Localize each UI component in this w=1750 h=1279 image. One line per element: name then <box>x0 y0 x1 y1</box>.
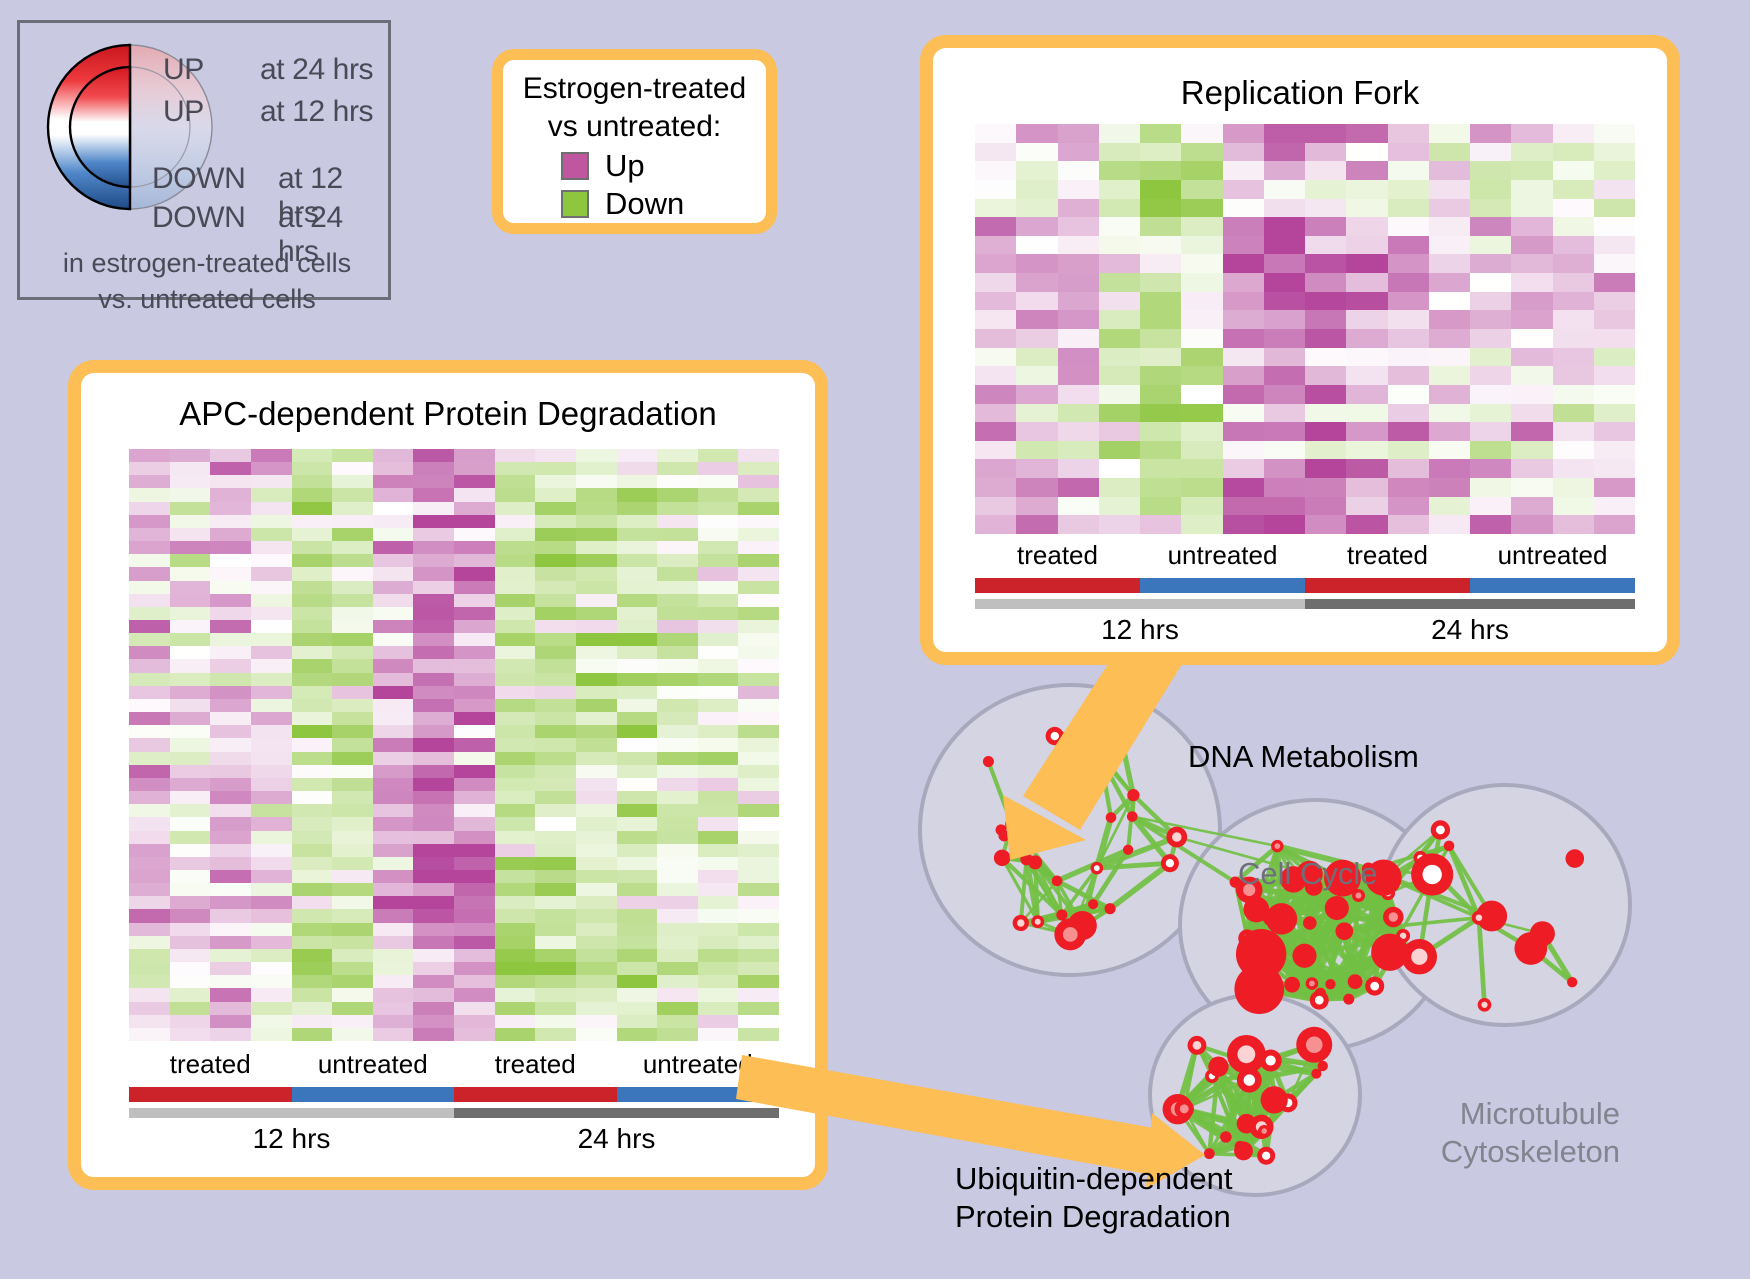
key-item-down: Down <box>561 188 684 219</box>
network-node[interactable] <box>1514 932 1547 965</box>
bar-segment-2 <box>454 1087 617 1102</box>
wheel-ring-label-1: UP <box>163 95 204 129</box>
network-node[interactable] <box>1325 979 1335 989</box>
key-title-line1: Estrogen-treated <box>503 70 766 108</box>
cluster-label-dna-metabolism: DNA Metabolism <box>1188 738 1419 776</box>
network-node-core <box>1035 919 1041 925</box>
network-node[interactable] <box>1127 811 1138 822</box>
network-node[interactable] <box>1236 929 1286 979</box>
network-node-core <box>1180 1104 1189 1113</box>
network-node-core <box>1309 981 1315 987</box>
network-node-core <box>1370 982 1379 991</box>
network-node[interactable] <box>1073 720 1094 741</box>
network-node[interactable] <box>1284 977 1300 993</box>
network-node[interactable] <box>1208 1057 1228 1077</box>
group-labels-replication: treateduntreatedtreateduntreated <box>975 540 1635 571</box>
treatment-bar-replication <box>975 578 1635 593</box>
heatmap-replication-fork <box>975 124 1635 534</box>
panel-apc-degradation: APC-dependent Protein Degradation treate… <box>68 360 828 1190</box>
network-node[interactable] <box>1318 1061 1328 1071</box>
network-node-core <box>1017 919 1024 926</box>
network-node-core <box>1411 949 1427 965</box>
panel-title-apc: APC-dependent Protein Degradation <box>81 395 815 433</box>
network-node[interactable] <box>1444 841 1455 852</box>
time-bar-apc <box>129 1108 779 1118</box>
network-node-core <box>1262 1152 1270 1160</box>
bar-segment-1 <box>1140 578 1305 593</box>
network-node[interactable] <box>1343 994 1354 1005</box>
network-node[interactable] <box>994 850 1010 866</box>
network-node-core <box>1051 732 1059 740</box>
network-node[interactable] <box>1292 944 1316 968</box>
key-title: Estrogen-treated vs untreated: <box>503 70 766 146</box>
down-swatch-icon <box>561 190 589 218</box>
up-swatch-icon <box>561 152 589 180</box>
bar-segment-1 <box>292 1087 455 1102</box>
group-label-1: untreated <box>1140 540 1305 571</box>
key-label-down: Down <box>605 188 684 219</box>
treatment-bar-apc <box>129 1087 779 1102</box>
colorwheel-note-line2: vs. untreated cells <box>20 281 394 317</box>
group-label-2: treated <box>1305 540 1470 571</box>
network-node[interactable] <box>1348 974 1363 989</box>
network-node-core <box>1244 1074 1255 1085</box>
colorwheel-note-line1: in estrogen-treated cells <box>20 245 394 281</box>
network-node[interactable] <box>1303 916 1317 930</box>
bar-segment-3 <box>1470 578 1635 593</box>
network-node-core <box>1009 821 1015 827</box>
heatmap-apc-degradation <box>129 449 779 1041</box>
wheel-ring-label-0: UP <box>163 53 204 87</box>
network-node[interactable] <box>1335 922 1353 940</box>
network-node[interactable] <box>1052 875 1063 886</box>
group-label-3: untreated <box>1470 540 1635 571</box>
network-node-core <box>1193 1041 1202 1050</box>
group-label-2: treated <box>454 1049 617 1080</box>
network-node-core <box>1356 893 1362 899</box>
key-item-up: Up <box>561 150 645 181</box>
panel-title-replication: Replication Fork <box>933 74 1667 112</box>
network-node[interactable] <box>1028 855 1042 869</box>
bar-segment-0 <box>129 1087 292 1102</box>
network-node-core <box>1389 912 1398 921</box>
group-label-3: untreated <box>617 1049 780 1080</box>
network-node-core <box>1172 832 1182 842</box>
network-node[interactable] <box>1220 1131 1231 1142</box>
network-node[interactable] <box>1106 812 1117 823</box>
colorwheel-legend-box: UP at 24 hrs UP at 12 hrs DOWN at 12 hrs… <box>17 20 391 300</box>
wheel-ring-time-1: at 12 hrs <box>260 95 373 129</box>
bar-segment-2 <box>1305 578 1470 593</box>
key-label-up: Up <box>605 150 645 181</box>
figure-canvas: UP at 24 hrs UP at 12 hrs DOWN at 12 hrs… <box>0 0 1750 1279</box>
time-labels-apc: 12 hrs24 hrs <box>129 1123 779 1155</box>
wheel-ring-label-2: DOWN <box>152 162 245 196</box>
time-label-0: 12 hrs <box>129 1123 454 1155</box>
wheel-ring-label-3: DOWN <box>152 201 245 235</box>
bar-segment-1 <box>1305 599 1635 609</box>
network-node-core <box>1094 751 1107 764</box>
network-node-core <box>1112 721 1126 735</box>
network-node-core <box>1261 1128 1267 1134</box>
network-node[interactable] <box>1056 909 1067 920</box>
network-node[interactable] <box>1088 899 1098 909</box>
bar-segment-1 <box>454 1108 779 1118</box>
network-node-core <box>1274 843 1280 849</box>
network-node-core <box>1422 865 1441 884</box>
bar-segment-0 <box>975 599 1305 609</box>
group-label-0: treated <box>975 540 1140 571</box>
network-node[interactable] <box>1567 977 1577 987</box>
network-node[interactable] <box>1105 903 1116 914</box>
bar-segment-0 <box>129 1108 454 1118</box>
time-bar-replication <box>975 599 1635 609</box>
time-label-1: 24 hrs <box>454 1123 779 1155</box>
updown-key-box: Estrogen-treated vs untreated: Up Down <box>492 49 777 234</box>
network-node-core <box>1476 914 1483 921</box>
network-node[interactable] <box>1127 789 1139 801</box>
network-node-core <box>1315 996 1324 1005</box>
network-node[interactable] <box>1565 849 1584 868</box>
network-node-core <box>1266 1055 1276 1065</box>
bar-segment-0 <box>975 578 1140 593</box>
network-node[interactable] <box>1123 845 1133 855</box>
network-node[interactable] <box>983 756 994 767</box>
bar-segment-3 <box>617 1087 780 1102</box>
network-node-core <box>1481 1002 1487 1008</box>
network-node-core <box>1063 927 1078 942</box>
cluster-label-microtubule-cytoskeleton: Microtubule Cytoskeleton <box>1330 1095 1620 1171</box>
wheel-ring-time-0: at 24 hrs <box>260 53 373 87</box>
cluster-label-cell-cycle: Cell Cycle <box>1238 855 1378 893</box>
group-label-1: untreated <box>292 1049 455 1080</box>
network-node[interactable] <box>1261 1086 1288 1113</box>
network-node-core <box>1094 865 1100 871</box>
network-node[interactable] <box>1235 1141 1246 1152</box>
panel-replication-fork: Replication Fork treateduntreatedtreated… <box>920 35 1680 665</box>
cluster-label-ubiquitin-degradation: Ubiquitin-dependent Protein Degradation <box>955 1160 1233 1236</box>
key-title-line2: vs untreated: <box>503 108 766 146</box>
network-node-core <box>1436 825 1445 834</box>
network-node[interactable] <box>1325 896 1349 920</box>
network-node-core <box>1166 859 1174 867</box>
network-node[interactable] <box>1204 1148 1215 1159</box>
network-node[interactable] <box>998 830 1009 841</box>
network-node-core <box>1306 1036 1323 1053</box>
group-label-0: treated <box>129 1049 292 1080</box>
network-node-core <box>1237 1045 1255 1063</box>
group-labels-apc: treateduntreatedtreateduntreated <box>129 1049 779 1080</box>
